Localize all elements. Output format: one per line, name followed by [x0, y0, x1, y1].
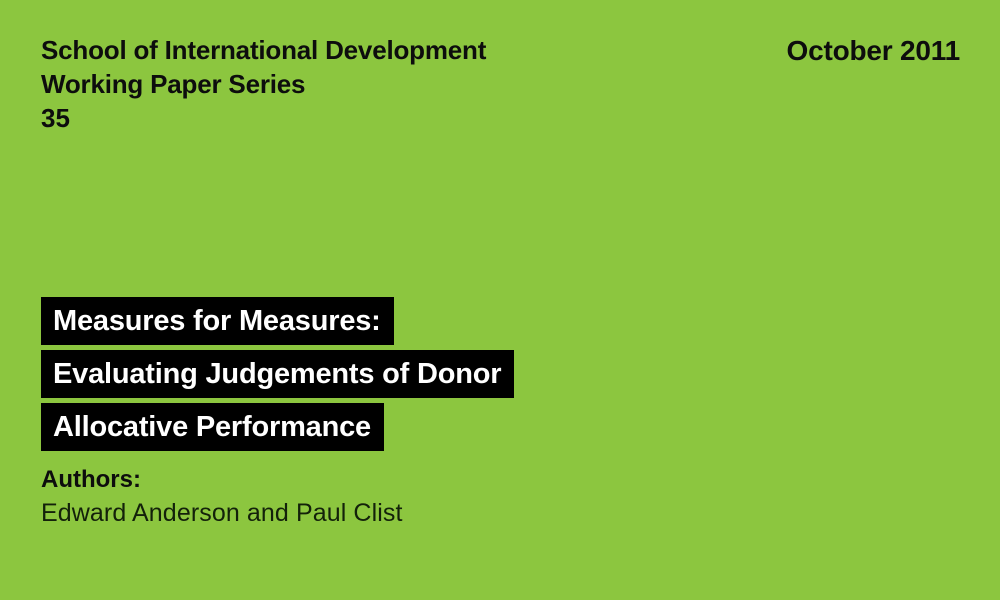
authors-block: Authors: Edward Anderson and Paul Clist [41, 464, 641, 530]
issue-number: 35 [41, 101, 661, 135]
series-title-line-2: Working Paper Series [41, 67, 661, 101]
paper-title-line-1: Measures for Measures: [41, 297, 394, 345]
paper-title-line-2: Evaluating Judgements of Donor [41, 350, 514, 398]
series-title-line-1: School of International Development [41, 33, 661, 67]
paper-title-line-3: Allocative Performance [41, 403, 384, 451]
working-paper-cover: School of International Development Work… [0, 0, 1000, 600]
paper-title: Measures for Measures: Evaluating Judgem… [41, 297, 741, 451]
publication-date: October 2011 [787, 33, 960, 69]
authors-names: Edward Anderson and Paul Clist [41, 496, 641, 530]
authors-label: Authors: [41, 464, 641, 496]
series-header: School of International Development Work… [41, 33, 661, 135]
